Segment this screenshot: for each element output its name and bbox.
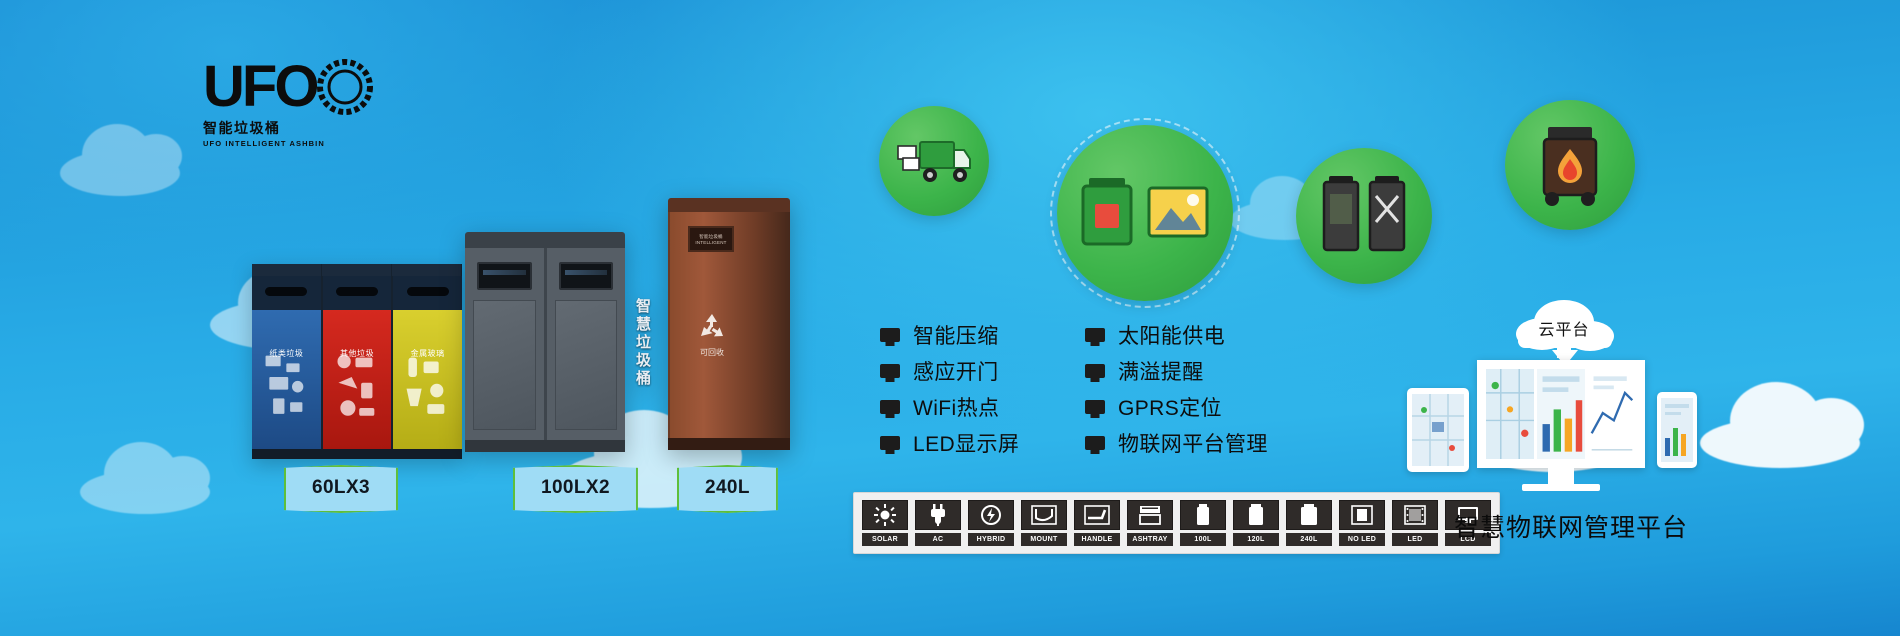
hybrid-bolt-icon [968,500,1014,530]
capacity-badge-60lx3: 60LX3 [284,465,398,513]
spec-icon-cell: 120L [1233,500,1279,546]
dashboard-map-pane [1486,369,1534,459]
ashtray-icon [1127,500,1173,530]
spec-icon-label: MOUNT [1021,533,1067,546]
brand-logo: UFO 智能垃圾桶 UFO INTELLIGENT ASHBIN [203,58,333,150]
waste-glyphs [329,344,386,441]
spec-icon-cell: NO LED [1339,500,1385,546]
spec-icon-cell: SOLAR [862,500,908,546]
bin-base [252,449,462,459]
smartphone-device [1657,392,1697,468]
twin-bin-icon [1296,148,1432,284]
bin-slot-icon [336,287,378,296]
bin-top [465,232,625,248]
bin-screen-text: 智能垃圾桶INTELLIGENT [690,228,732,247]
monitor-bullet-icon [1085,364,1105,378]
desktop-monitor [1477,360,1645,491]
recycle-icon [697,312,727,340]
promo-banner: UFO 智能垃圾桶 UFO INTELLIGENT ASHBIN 纸类垃圾 [0,0,1900,636]
solar-bin-icon [1057,125,1233,301]
feature-label: WiFi热点 [913,392,999,422]
bin-door [555,300,618,430]
bin-display-screen [559,262,614,290]
monitor-bullet-icon [880,328,900,342]
cloud-decoration [1700,418,1860,468]
bin-panel: 纸类垃圾 [252,310,321,449]
phone-screen [1661,398,1693,462]
monitor-bullet-icon [880,364,900,378]
feature-label: 感应开门 [913,356,999,386]
twin-bin-circle [1296,148,1432,284]
dashboard-chart-pane [1588,369,1636,459]
monitor-stand [1548,468,1574,484]
bin-240l-icon [1286,500,1332,530]
spec-icon-label: LED [1392,533,1438,546]
spec-icon-label: 240L [1286,533,1332,546]
spec-icon-strip: SOLAR AC HYBRID [853,492,1500,554]
cloud-decoration [80,470,210,514]
sun-icon [862,500,908,530]
feature-item: LED显示屏 [880,428,1085,458]
spec-icon-cell: AC [915,500,961,546]
spec-icon-cell: 100L [1180,500,1226,546]
monitor-bullet-icon [1085,436,1105,450]
cloud-platform-label: 云平台 [1508,316,1620,340]
spec-icon-cell: HYBRID [968,500,1014,546]
feature-item: WiFi热点 [880,392,1085,422]
logo-wordmark: UFO [203,61,316,113]
feature-item: GPRS定位 [1085,392,1290,422]
feature-label: 太阳能供电 [1118,320,1225,350]
spec-icon-cell: LED [1392,500,1438,546]
bin-120l-icon [1233,500,1279,530]
compaction-truck-circle [879,106,989,216]
bin-body: 纸类垃圾 [252,276,462,449]
feature-label: 智能压缩 [913,320,999,350]
solar-bin-circle [1057,125,1233,301]
bin-base [668,438,790,450]
capacity-badge-240l: 240L [677,465,778,513]
bin-compartment [465,248,547,440]
monitor-bullet-icon [1085,328,1105,342]
monitor-bullet-icon [880,400,900,414]
spec-icon-cell: HANDLE [1074,500,1120,546]
spec-icon-label: AC [915,533,961,546]
bin-head [393,276,462,310]
logo-english-name: UFO INTELLIGENT ASHBIN [203,139,333,148]
feature-label: GPRS定位 [1118,392,1222,422]
ufo-ring-icon [317,59,373,115]
bin-panel: 金属玻璃 [393,310,462,449]
bin-top-rail [252,264,462,276]
fire-alarm-circle [1505,100,1635,230]
spec-icon-label: 120L [1233,533,1279,546]
spec-icon-label: NO LED [1339,533,1385,546]
bin-top [668,198,790,212]
spec-icon-label: SOLAR [862,533,908,546]
logo-mark: UFO [203,58,333,116]
no-led-icon [1339,500,1385,530]
plug-icon [915,500,961,530]
capacity-badge-100lx2: 100LX2 [513,465,638,513]
waste-glyphs [399,344,456,441]
bin-compartment [547,248,626,440]
truck-compaction-icon [879,106,989,216]
bin-head [323,276,392,310]
spec-icon-label: HANDLE [1074,533,1120,546]
bin-compartment: 金属玻璃 [393,276,462,449]
cloud-platform-tag: 云平台 [1508,296,1620,352]
feature-label: LED显示屏 [913,428,1019,458]
feature-item: 太阳能供电 [1085,320,1290,350]
feature-item: 满溢提醒 [1085,356,1290,386]
feature-item: 智能压缩 [880,320,1085,350]
spec-icon-label: ASHTRAY [1127,533,1173,546]
bin-compartment: 纸类垃圾 [252,276,323,449]
spec-icon-label: HYBRID [968,533,1014,546]
bin-panel: 其他垃圾 [323,310,392,449]
feature-list: 智能压缩 太阳能供电 感应开门 满溢提醒 WiFi热点 GPRS定位 LED显示… [880,320,1290,458]
bin-base [465,440,625,452]
bin-compartment: 其他垃圾 [323,276,394,449]
logo-chinese-name: 智能垃圾桶 [203,118,333,138]
bin-side-text: 智慧垃圾桶 [632,298,653,388]
dashboard-stats-pane [1537,369,1585,459]
bin-body: 智能垃圾桶INTELLIGENT 可回收 [668,212,790,438]
bin-display-screen: 智能垃圾桶INTELLIGENT [688,226,734,252]
spec-icon-cell: MOUNT [1021,500,1067,546]
platform-title: 智慧物联网管理平台 [1454,508,1688,544]
dual-compartment-bin: 智慧垃圾桶 [465,232,625,452]
spec-icon-cell: 240L [1286,500,1332,546]
monitor-bullet-icon [880,436,900,450]
spec-icon-label: 100L [1180,533,1226,546]
feature-item: 感应开门 [880,356,1085,386]
monitor-screen [1477,360,1645,468]
waste-glyphs [258,344,315,441]
tablet-device [1407,388,1469,472]
recycle-mark: 可回收 [690,312,734,358]
feature-label: 物联网平台管理 [1118,428,1268,458]
led-panel-icon [1392,500,1438,530]
fire-alarm-icon [1505,100,1635,230]
bin-slot-icon [407,287,449,296]
cloud-decoration [60,150,180,196]
bin-door [473,300,536,430]
spec-icon-cell: ASHTRAY [1127,500,1173,546]
monitor-base [1522,484,1600,491]
handle-icon [1074,500,1120,530]
bin-display-screen [477,262,532,290]
feature-item: 物联网平台管理 [1085,428,1290,458]
feature-label: 满溢提醒 [1118,356,1204,386]
recycle-label: 可回收 [690,347,734,358]
tablet-screen [1412,394,1464,466]
mount-bracket-icon [1021,500,1067,530]
bin-slot-icon [265,287,307,296]
triple-compartment-bin: 纸类垃圾 [252,264,462,449]
monitor-bullet-icon [1085,400,1105,414]
bin-100l-icon [1180,500,1226,530]
bin-head [252,276,321,310]
brown-recycle-bin: 智能垃圾桶INTELLIGENT 可回收 [668,198,790,450]
bin-body [465,248,625,440]
